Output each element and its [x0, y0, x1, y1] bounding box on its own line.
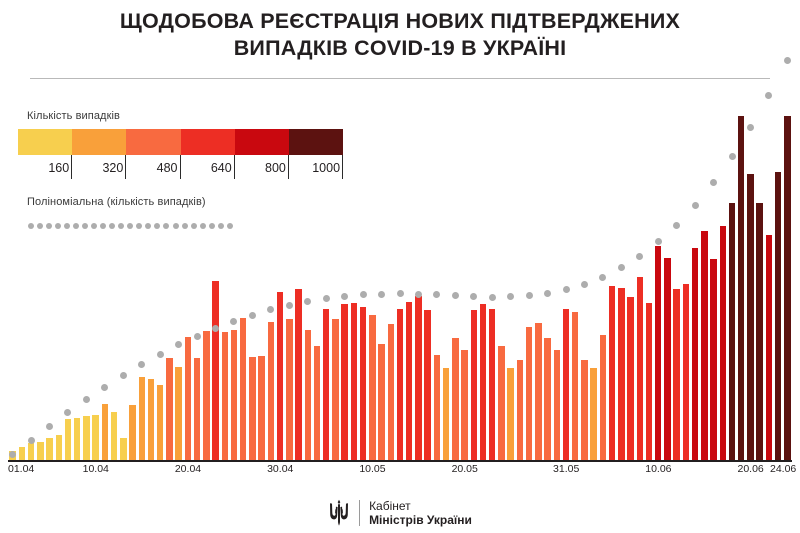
- x-axis-label: 10.06: [645, 463, 671, 475]
- bar: [56, 435, 62, 460]
- bar: [738, 116, 744, 460]
- bar: [655, 246, 661, 460]
- bar: [222, 332, 228, 460]
- bar: [498, 346, 504, 460]
- x-axis-label: 30.04: [267, 463, 293, 475]
- trend-dot: [765, 92, 772, 99]
- bar: [268, 322, 274, 460]
- bar: [526, 327, 532, 460]
- bar: [46, 438, 52, 460]
- bar: [424, 310, 430, 460]
- ukraine-trident-icon: [328, 499, 350, 527]
- bar: [175, 367, 181, 460]
- x-axis-label: 20.04: [175, 463, 201, 475]
- bar: [590, 368, 596, 460]
- bar: [627, 297, 633, 460]
- bar: [563, 309, 569, 460]
- footer-line-2: Міністрів України: [369, 513, 472, 527]
- bar: [166, 358, 172, 460]
- bar: [784, 116, 790, 460]
- bar: [756, 203, 762, 460]
- title-divider: [30, 78, 770, 79]
- bar: [305, 330, 311, 460]
- bar: [535, 323, 541, 460]
- bar: [111, 412, 117, 460]
- bar: [194, 358, 200, 460]
- bar: [747, 174, 753, 460]
- bar: [314, 346, 320, 460]
- footer-line-1: Кабінет: [369, 499, 472, 513]
- bar: [572, 312, 578, 460]
- bar: [369, 315, 375, 460]
- bar: [517, 360, 523, 460]
- bar: [766, 235, 772, 460]
- bar: [28, 443, 34, 460]
- bar: [139, 377, 145, 460]
- bar: [471, 310, 477, 460]
- bar: [157, 385, 163, 460]
- bar: [240, 318, 246, 460]
- bar: [9, 451, 15, 460]
- bar: [637, 277, 643, 460]
- bar: [323, 309, 329, 460]
- bar: [258, 356, 264, 460]
- chart-title: ЩОДОБОВА РЕЄСТРАЦІЯ НОВИХ ПІДТВЕРДЖЕНИХ …: [0, 8, 800, 62]
- bar: [544, 338, 550, 460]
- bar: [609, 286, 615, 460]
- bar: [600, 335, 606, 460]
- bar-series: [8, 100, 792, 460]
- x-axis-labels: 01.0410.0420.0430.0410.0520.0531.0510.06…: [0, 463, 800, 481]
- bar: [673, 289, 679, 460]
- bar: [581, 360, 587, 460]
- bar: [775, 172, 781, 460]
- bar: [406, 302, 412, 460]
- bar: [554, 350, 560, 460]
- bar: [452, 338, 458, 460]
- footer-text: Кабінет Міністрів України: [369, 499, 472, 527]
- bar: [443, 368, 449, 460]
- footer-divider: [359, 500, 360, 526]
- x-axis-label: 10.05: [359, 463, 385, 475]
- bar: [720, 226, 726, 460]
- title-line-1: ЩОДОБОВА РЕЄСТРАЦІЯ НОВИХ ПІДТВЕРДЖЕНИХ: [0, 8, 800, 35]
- bar: [341, 304, 347, 460]
- title-line-2: ВИПАДКІВ COVID-19 В УКРАЇНІ: [0, 35, 800, 62]
- bar: [19, 447, 25, 460]
- bar: [434, 355, 440, 460]
- bar: [351, 303, 357, 460]
- bar: [185, 337, 191, 460]
- bar: [618, 288, 624, 460]
- bar: [710, 259, 716, 460]
- bar: [692, 248, 698, 460]
- bar: [120, 438, 126, 460]
- footer-branding: Кабінет Міністрів України: [0, 492, 800, 533]
- x-axis-label: 20.05: [452, 463, 478, 475]
- bar: [83, 416, 89, 460]
- bar: [397, 309, 403, 460]
- x-axis-label: 01.04: [8, 463, 34, 475]
- x-axis-label: 31.05: [553, 463, 579, 475]
- bar: [295, 289, 301, 460]
- bar: [664, 258, 670, 460]
- x-axis-label: 24.06: [770, 463, 796, 475]
- bar: [212, 281, 218, 460]
- bar: [507, 368, 513, 460]
- bar: [231, 330, 237, 460]
- bar: [701, 231, 707, 460]
- bar: [148, 379, 154, 460]
- bar: [489, 309, 495, 460]
- bar: [378, 344, 384, 460]
- x-axis-line: [8, 460, 792, 462]
- bar: [480, 304, 486, 460]
- bar: [286, 319, 292, 460]
- chart-page: ЩОДОБОВА РЕЄСТРАЦІЯ НОВИХ ПІДТВЕРДЖЕНИХ …: [0, 0, 800, 533]
- bar: [65, 419, 71, 460]
- bar: [683, 284, 689, 460]
- bar: [102, 404, 108, 460]
- bar: [249, 357, 255, 460]
- bar: [646, 303, 652, 460]
- bar: [74, 418, 80, 460]
- bar: [37, 442, 43, 460]
- bar: [203, 331, 209, 460]
- x-axis-label: 20.06: [737, 463, 763, 475]
- bar: [360, 307, 366, 460]
- bar: [461, 350, 467, 460]
- x-axis-label: 10.04: [83, 463, 109, 475]
- bar: [92, 415, 98, 460]
- plot-area: [8, 100, 792, 460]
- bar: [277, 292, 283, 460]
- bar: [415, 296, 421, 460]
- bar: [388, 324, 394, 460]
- bar: [332, 319, 338, 460]
- bar: [129, 405, 135, 460]
- bar: [729, 203, 735, 460]
